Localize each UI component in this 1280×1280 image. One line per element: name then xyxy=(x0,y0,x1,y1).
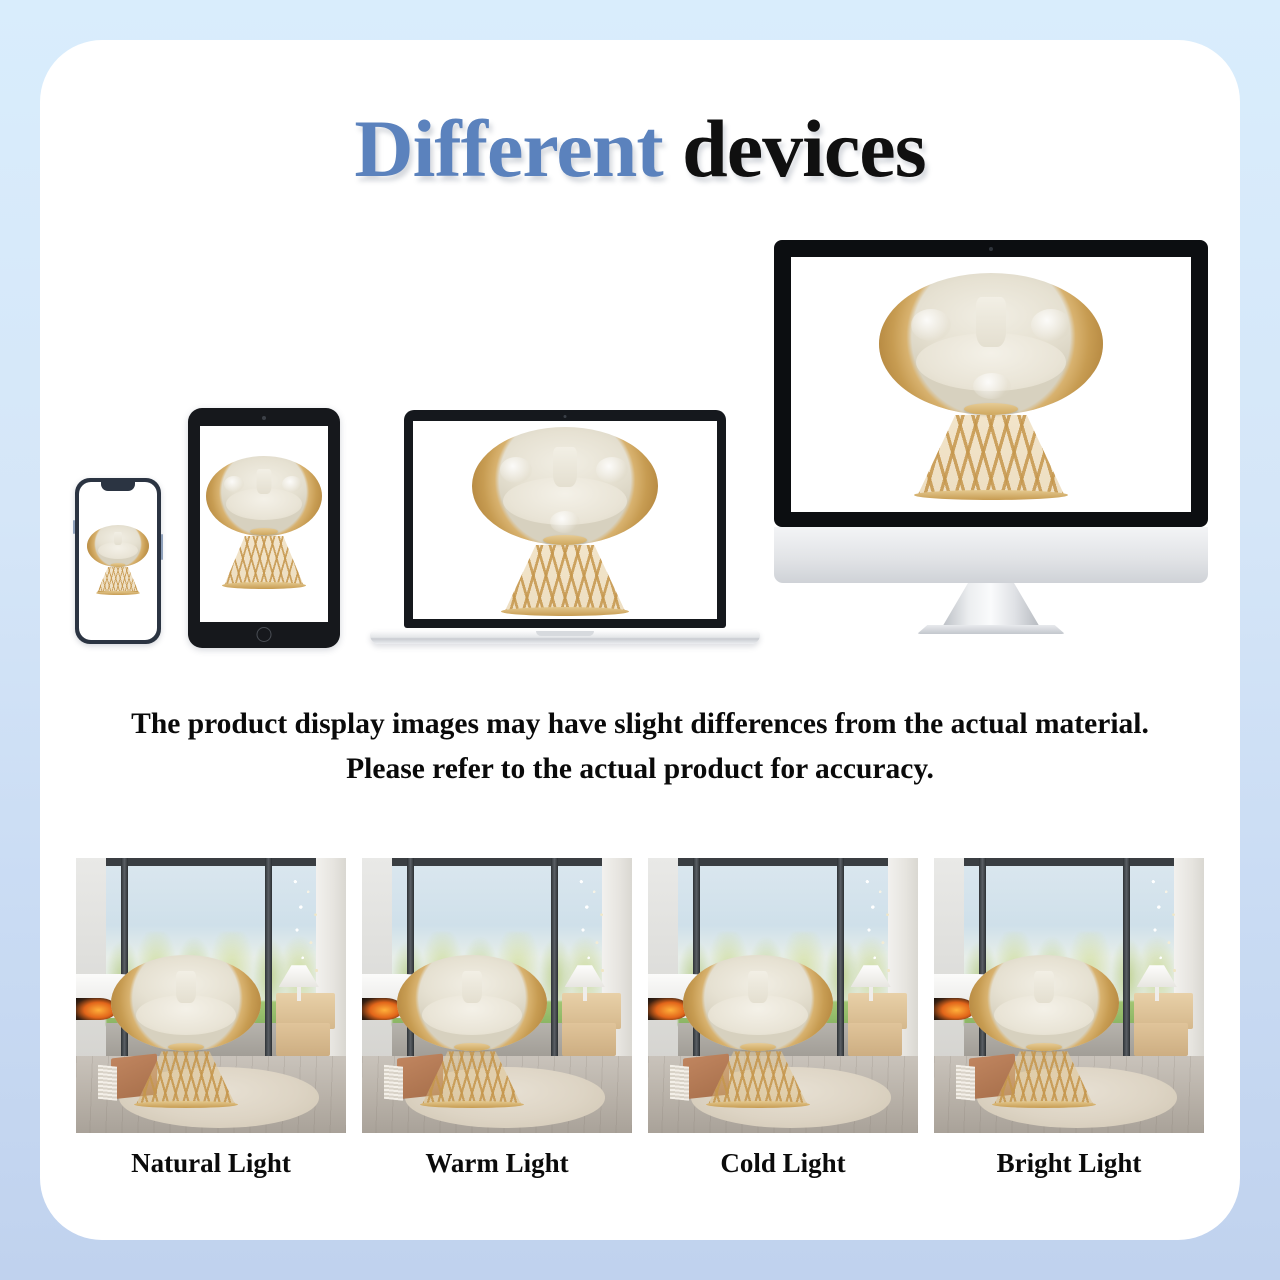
thumbnail-caption: Natural Light xyxy=(76,1148,346,1179)
monitor-screen-glare xyxy=(1081,257,1191,283)
thumbnail-warm-light[interactable]: Warm Light xyxy=(362,858,632,1158)
content-card: Different devices xyxy=(40,40,1240,1240)
phone-notch-icon xyxy=(101,482,135,491)
page-title-accent: Different xyxy=(354,103,662,194)
monitor-screen xyxy=(791,257,1191,512)
tablet-home-button[interactable] xyxy=(257,627,272,642)
phone-volume-button xyxy=(73,520,75,534)
thumbnail-caption: Bright Light xyxy=(934,1148,1204,1179)
page-title: Different devices xyxy=(40,102,1240,196)
device-laptop xyxy=(370,410,760,650)
chair-image-phone xyxy=(87,525,149,597)
thumbnail-caption: Cold Light xyxy=(648,1148,918,1179)
chair-image-monitor xyxy=(879,273,1103,497)
monitor-stand-neck xyxy=(941,583,1041,629)
monitor-camera-icon xyxy=(989,247,993,251)
device-showcase xyxy=(40,230,1240,630)
thumbnail-caption: Warm Light xyxy=(362,1148,632,1179)
room-photo[interactable] xyxy=(362,858,632,1133)
tablet-screen xyxy=(200,426,328,622)
phone-power-button xyxy=(161,534,163,560)
disclaimer-line-1: The product display images may have slig… xyxy=(40,702,1240,747)
chair-image-tablet xyxy=(206,456,322,592)
lighting-comparison-gallery: Natural Light xyxy=(76,858,1204,1158)
monitor-chin xyxy=(774,527,1208,583)
laptop-camera-icon xyxy=(564,415,567,418)
room-photo[interactable] xyxy=(648,858,918,1133)
page-title-main: devices xyxy=(682,103,925,194)
disclaimer-line-2: Please refer to the actual product for a… xyxy=(40,747,1240,792)
laptop-base xyxy=(370,631,760,644)
thumbnail-cold-light[interactable]: Cold Light xyxy=(648,858,918,1158)
monitor-stand-foot xyxy=(917,625,1065,634)
thumbnail-natural-light[interactable]: Natural Light xyxy=(76,858,346,1158)
device-phone xyxy=(75,478,161,644)
chair-image-laptop xyxy=(472,427,658,613)
phone-screen xyxy=(79,482,157,640)
laptop-notch-icon xyxy=(536,631,594,636)
room-photo[interactable] xyxy=(934,858,1204,1133)
laptop-screen xyxy=(413,421,717,619)
tablet-camera-icon xyxy=(262,416,266,420)
monitor-bezel xyxy=(774,240,1208,527)
disclaimer-text: The product display images may have slig… xyxy=(40,702,1240,792)
device-monitor xyxy=(760,240,1222,630)
room-photo[interactable] xyxy=(76,858,346,1133)
device-tablet xyxy=(188,408,340,648)
laptop-lid xyxy=(404,410,726,628)
thumbnail-bright-light[interactable]: Bright Light xyxy=(934,858,1204,1158)
